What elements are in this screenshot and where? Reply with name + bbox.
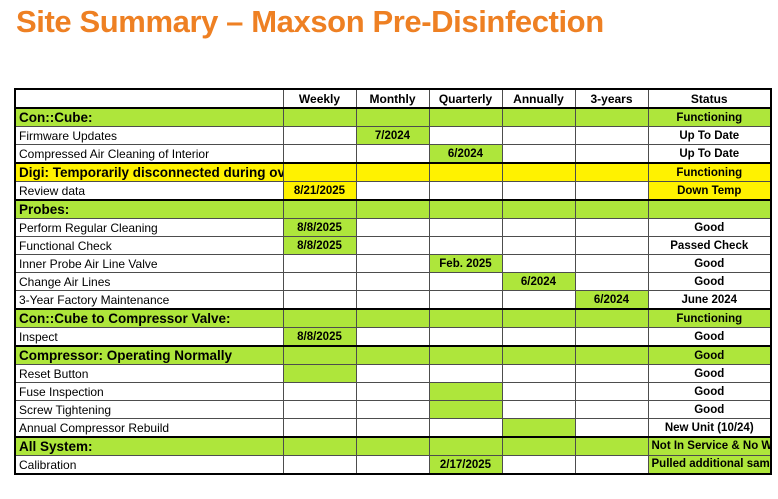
table-row: Fuse InspectionGood	[15, 383, 771, 401]
cell-quarterly	[429, 401, 502, 419]
table-row: Review data8/21/2025Down Temp	[15, 182, 771, 201]
cell-weekly: 8/8/2025	[283, 219, 356, 237]
task-label: Firmware Updates	[15, 127, 283, 145]
cell-quarterly	[429, 273, 502, 291]
cell-years3	[575, 200, 648, 219]
cell-annually	[502, 383, 575, 401]
cell-years3	[575, 401, 648, 419]
site-summary-table-wrapper: WeeklyMonthlyQuarterlyAnnually3-yearsSta…	[14, 88, 768, 475]
cell-annually: 6/2024	[502, 273, 575, 291]
status-cell: Functioning	[648, 108, 771, 127]
task-label: Perform Regular Cleaning	[15, 219, 283, 237]
status-cell: Up To Date	[648, 145, 771, 164]
table-row: Perform Regular Cleaning8/8/2025Good	[15, 219, 771, 237]
status-cell: Good	[648, 273, 771, 291]
cell-monthly	[356, 437, 429, 456]
cell-quarterly	[429, 219, 502, 237]
table-header-row: WeeklyMonthlyQuarterlyAnnually3-yearsSta…	[15, 89, 771, 108]
task-label: Compressed Air Cleaning of Interior	[15, 145, 283, 164]
cell-years3	[575, 255, 648, 273]
cell-years3	[575, 127, 648, 145]
cell-years3: 6/2024	[575, 291, 648, 310]
cell-weekly	[283, 108, 356, 127]
section-label: Con::Cube to Compressor Valve:	[15, 309, 283, 328]
cell-weekly	[283, 346, 356, 365]
cell-annually	[502, 219, 575, 237]
cell-weekly	[283, 383, 356, 401]
cell-annually	[502, 200, 575, 219]
cell-weekly	[283, 200, 356, 219]
cell-monthly	[356, 182, 429, 201]
cell-annually	[502, 309, 575, 328]
status-cell: Passed Check	[648, 237, 771, 255]
column-header-status: Status	[648, 89, 771, 108]
cell-years3	[575, 309, 648, 328]
cell-quarterly	[429, 291, 502, 310]
cell-annually	[502, 346, 575, 365]
column-header-weekly: Weekly	[283, 89, 356, 108]
status-cell: Up To Date	[648, 127, 771, 145]
cell-years3	[575, 237, 648, 255]
cell-weekly	[283, 365, 356, 383]
table-row: Screw TighteningGood	[15, 401, 771, 419]
cell-quarterly	[429, 200, 502, 219]
task-label: Fuse Inspection	[15, 383, 283, 401]
cell-monthly	[356, 383, 429, 401]
section-label: Digi: Temporarily disconnected during ov…	[15, 163, 283, 182]
cell-monthly	[356, 200, 429, 219]
table-section-row: Probes:	[15, 200, 771, 219]
cell-annually	[502, 163, 575, 182]
cell-annually	[502, 108, 575, 127]
cell-monthly	[356, 108, 429, 127]
cell-weekly: 8/8/2025	[283, 237, 356, 255]
status-cell: Functioning	[648, 163, 771, 182]
cell-annually	[502, 419, 575, 438]
cell-quarterly	[429, 437, 502, 456]
page-title: Site Summary – Maxson Pre-Disinfection	[16, 4, 604, 40]
table-section-row: Con::Cube to Compressor Valve:Functionin…	[15, 309, 771, 328]
table-section-row: All System:Not In Service & No Water	[15, 437, 771, 456]
status-cell: Good	[648, 255, 771, 273]
table-row: Functional Check8/8/2025Passed Check	[15, 237, 771, 255]
cell-annually	[502, 127, 575, 145]
cell-monthly	[356, 309, 429, 328]
cell-quarterly	[429, 108, 502, 127]
cell-weekly	[283, 127, 356, 145]
cell-monthly	[356, 219, 429, 237]
cell-weekly	[283, 255, 356, 273]
task-label: 3-Year Factory Maintenance	[15, 291, 283, 310]
task-label: Calibration	[15, 456, 283, 475]
cell-monthly	[356, 419, 429, 438]
cell-years3	[575, 383, 648, 401]
cell-annually	[502, 145, 575, 164]
cell-weekly	[283, 309, 356, 328]
cell-quarterly	[429, 309, 502, 328]
status-cell: New Unit (10/24)	[648, 419, 771, 438]
column-header-monthly: Monthly	[356, 89, 429, 108]
table-row: Inner Probe Air Line ValveFeb. 2025Good	[15, 255, 771, 273]
cell-years3	[575, 145, 648, 164]
cell-monthly	[356, 346, 429, 365]
section-label: Compressor: Operating Normally	[15, 346, 283, 365]
cell-years3	[575, 419, 648, 438]
status-cell: Not In Service & No Water	[648, 437, 771, 456]
section-label: Probes:	[15, 200, 283, 219]
status-cell: Good	[648, 383, 771, 401]
cell-monthly	[356, 273, 429, 291]
cell-years3	[575, 437, 648, 456]
cell-monthly: 7/2024	[356, 127, 429, 145]
cell-quarterly	[429, 419, 502, 438]
cell-quarterly	[429, 328, 502, 347]
page-root: Site Summary – Maxson Pre-Disinfection W…	[0, 0, 778, 499]
section-label: Con::Cube:	[15, 108, 283, 127]
cell-years3	[575, 273, 648, 291]
cell-years3	[575, 456, 648, 475]
cell-quarterly	[429, 127, 502, 145]
cell-monthly	[356, 291, 429, 310]
section-label: All System:	[15, 437, 283, 456]
task-label: Screw Tightening	[15, 401, 283, 419]
cell-monthly	[356, 237, 429, 255]
cell-quarterly	[429, 383, 502, 401]
status-cell: Good	[648, 219, 771, 237]
column-header-quarterly: Quarterly	[429, 89, 502, 108]
cell-monthly	[356, 456, 429, 475]
cell-monthly	[356, 255, 429, 273]
cell-annually	[502, 182, 575, 201]
task-label: Annual Compressor Rebuild	[15, 419, 283, 438]
task-label: Change Air Lines	[15, 273, 283, 291]
cell-quarterly: Feb. 2025	[429, 255, 502, 273]
status-cell: Good	[648, 346, 771, 365]
cell-years3	[575, 182, 648, 201]
cell-annually	[502, 328, 575, 347]
cell-annually	[502, 237, 575, 255]
cell-quarterly: 6/2024	[429, 145, 502, 164]
cell-weekly	[283, 163, 356, 182]
status-cell: Good	[648, 328, 771, 347]
cell-weekly	[283, 401, 356, 419]
cell-quarterly	[429, 346, 502, 365]
cell-quarterly	[429, 365, 502, 383]
task-label: Inspect	[15, 328, 283, 347]
cell-weekly: 8/8/2025	[283, 328, 356, 347]
table-row: Annual Compressor RebuildNew Unit (10/24…	[15, 419, 771, 438]
cell-quarterly	[429, 163, 502, 182]
cell-monthly	[356, 328, 429, 347]
site-summary-table: WeeklyMonthlyQuarterlyAnnually3-yearsSta…	[14, 88, 772, 475]
cell-years3	[575, 163, 648, 182]
table-row: Change Air Lines6/2024Good	[15, 273, 771, 291]
cell-weekly	[283, 437, 356, 456]
status-cell: Functioning	[648, 309, 771, 328]
table-row: 3-Year Factory Maintenance6/2024June 202…	[15, 291, 771, 310]
table-section-row: Compressor: Operating NormallyGood	[15, 346, 771, 365]
column-header-task	[15, 89, 283, 108]
cell-monthly	[356, 163, 429, 182]
cell-weekly: 8/21/2025	[283, 182, 356, 201]
cell-annually	[502, 437, 575, 456]
table-row: Reset ButtonGood	[15, 365, 771, 383]
cell-monthly	[356, 145, 429, 164]
column-header-3-years: 3-years	[575, 89, 648, 108]
cell-quarterly: 2/17/2025	[429, 456, 502, 475]
cell-weekly	[283, 273, 356, 291]
status-cell: June 2024	[648, 291, 771, 310]
cell-annually	[502, 255, 575, 273]
cell-annually	[502, 456, 575, 475]
status-cell	[648, 200, 771, 219]
cell-years3	[575, 346, 648, 365]
cell-monthly	[356, 365, 429, 383]
cell-weekly	[283, 145, 356, 164]
cell-quarterly	[429, 237, 502, 255]
table-row: Compressed Air Cleaning of Interior6/202…	[15, 145, 771, 164]
status-cell: Good	[648, 401, 771, 419]
table-row: Inspect8/8/2025Good	[15, 328, 771, 347]
cell-quarterly	[429, 182, 502, 201]
cell-weekly	[283, 456, 356, 475]
task-label: Reset Button	[15, 365, 283, 383]
status-cell: Pulled additional samples	[648, 456, 771, 475]
cell-weekly	[283, 419, 356, 438]
table-body: WeeklyMonthlyQuarterlyAnnually3-yearsSta…	[15, 89, 771, 474]
cell-monthly	[356, 401, 429, 419]
cell-years3	[575, 365, 648, 383]
status-cell: Good	[648, 365, 771, 383]
cell-years3	[575, 328, 648, 347]
cell-weekly	[283, 291, 356, 310]
task-label: Inner Probe Air Line Valve	[15, 255, 283, 273]
task-label: Functional Check	[15, 237, 283, 255]
cell-annually	[502, 365, 575, 383]
table-row: Calibration2/17/2025Pulled additional sa…	[15, 456, 771, 475]
column-header-annually: Annually	[502, 89, 575, 108]
cell-annually	[502, 401, 575, 419]
task-label: Review data	[15, 182, 283, 201]
table-section-row: Con::Cube:Functioning	[15, 108, 771, 127]
table-row: Firmware Updates7/2024Up To Date	[15, 127, 771, 145]
cell-years3	[575, 108, 648, 127]
table-section-row: Digi: Temporarily disconnected during ov…	[15, 163, 771, 182]
cell-years3	[575, 219, 648, 237]
status-cell: Down Temp	[648, 182, 771, 201]
cell-annually	[502, 291, 575, 310]
